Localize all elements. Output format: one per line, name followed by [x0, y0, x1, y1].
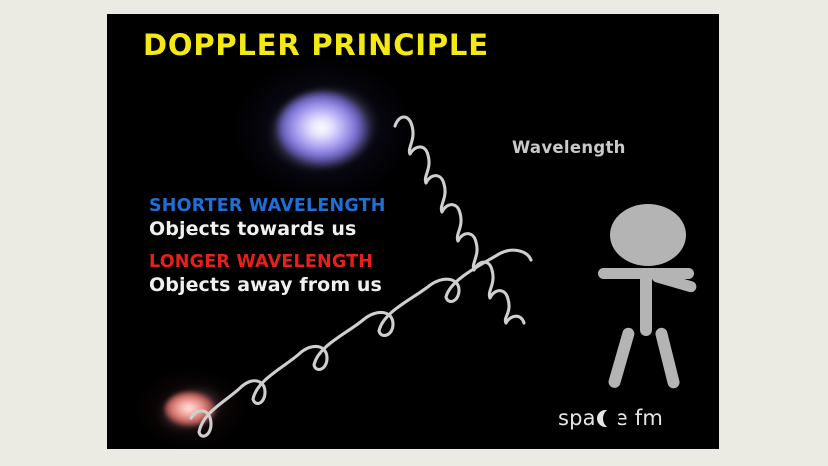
figure-torso	[640, 268, 652, 336]
legend-shorter-wavelength: SHORTER WAVELENGTH Objects towards us	[149, 196, 386, 241]
legend-shorter-subtext: Objects towards us	[149, 217, 386, 241]
legend-longer-subtext: Objects away from us	[149, 273, 382, 297]
legend-longer-heading: LONGER WAVELENGTH	[149, 252, 382, 272]
space-fm-logo: spa e fm	[558, 408, 663, 429]
observer-stick-figure	[596, 204, 706, 394]
wavelength-label: Wavelength	[512, 138, 626, 157]
moon-icon	[597, 410, 614, 427]
legend-longer-wavelength: LONGER WAVELENGTH Objects away from us	[149, 252, 382, 297]
legend-shorter-heading: SHORTER WAVELENGTH	[149, 196, 386, 216]
figure-head	[610, 204, 686, 266]
figure-left-leg	[607, 326, 636, 389]
slide-canvas: DOPPLER PRINCIPLE Wavelength SHORTER WAV…	[0, 0, 828, 466]
logo-prefix: spa	[558, 408, 596, 429]
moon-shadow	[603, 409, 619, 428]
logo-suffix: e fm	[615, 408, 663, 429]
diagram-panel: DOPPLER PRINCIPLE Wavelength SHORTER WAV…	[107, 14, 719, 449]
figure-right-leg	[654, 327, 681, 390]
